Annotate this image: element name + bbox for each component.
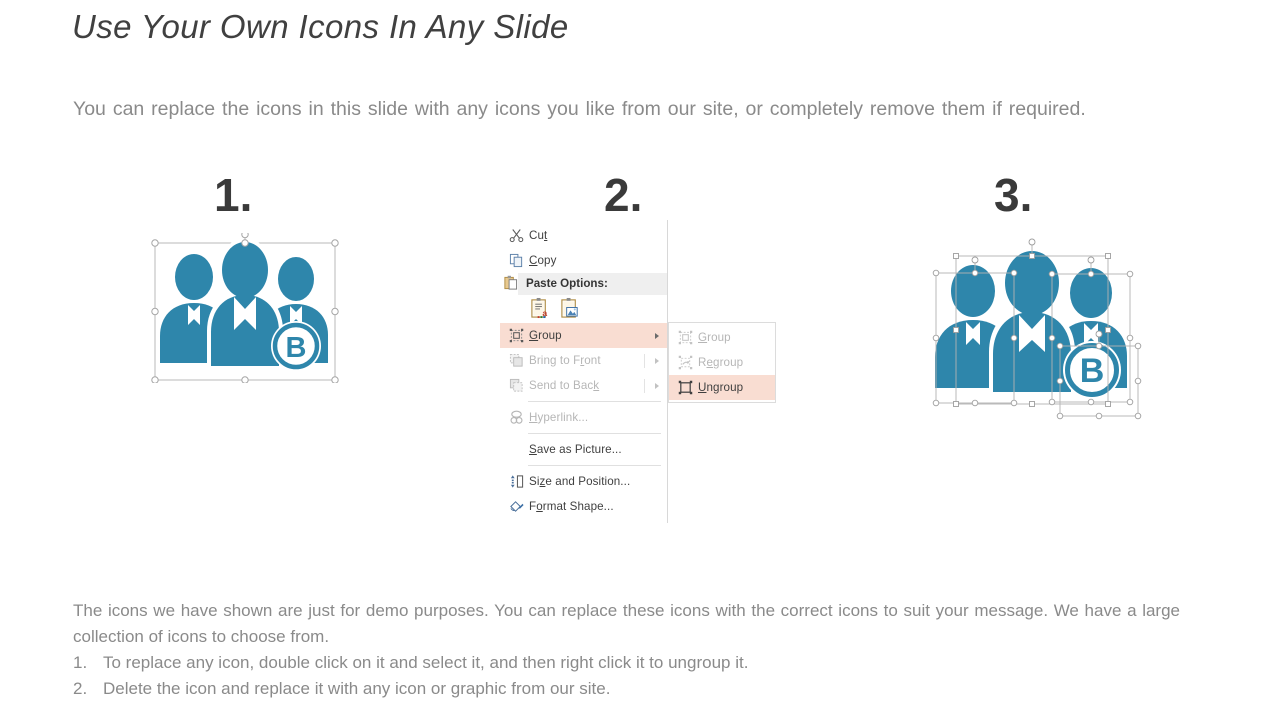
paste-icon [503,275,518,294]
intro-paragraph: You can replace the icons in this slide … [73,94,1185,124]
menu-item-save-as-picture[interactable]: Save as Picture... [500,437,667,462]
submenu-item-ungroup-label: Ungroup [698,381,743,394]
group-icon [503,327,529,345]
menu-item-copy[interactable]: Copy [500,248,667,273]
footer-block: The icons we have shown are just for dem… [73,598,1180,702]
copy-icon [503,252,529,270]
submenu-item-regroup[interactable]: Regroup [669,350,775,375]
menu-header-paste-options-label: Paste Options: [518,273,667,295]
list-item-text: To replace any icon, double click on it … [103,650,748,676]
menu-item-cut[interactable]: Cut [500,223,667,248]
menu-arrow-separator [644,354,645,368]
menu-header-paste-options: Paste Options: [500,273,667,295]
step-number-3: 3. [994,172,1032,218]
people-group-icon: B [935,247,1127,399]
hyperlink-icon [503,409,529,427]
handle-bottom-right [332,377,338,383]
svg-text:B: B [1080,352,1105,390]
page-title: Use Your Own Icons In Any Slide [72,8,1202,46]
handle-top-center [242,240,248,246]
menu-item-send-to-back[interactable]: Send to Back [500,373,667,398]
submenu-item-group-label: Group [698,331,731,344]
menu-arrow-separator [644,379,645,393]
handle-middle-left [152,308,158,314]
submenu-arrow-icon [655,333,659,339]
list-item-text: Delete the icon and replace it with any … [103,676,610,702]
footer-paragraph: The icons we have shown are just for dem… [73,598,1180,650]
menu-item-copy-label: Copy [529,254,556,267]
submenu-arrow-icon [655,383,659,389]
scissors-icon [503,227,529,245]
ungroup-icon [672,379,698,397]
list-item: 1. To replace any icon, double click on … [73,650,1180,676]
submenu-arrow-icon [655,358,659,364]
step-number-2: 2. [604,172,642,218]
handle-top-left [152,240,158,246]
menu-item-format-shape[interactable]: Format Shape... [500,494,667,519]
menu-item-cut-label: Cut [529,229,547,242]
bring-to-front-icon [503,352,529,370]
submenu-item-regroup-label: Regroup [698,356,743,369]
svg-text:B: B [286,332,307,364]
icon-panel-ungrouped[interactable]: B [920,228,1150,420]
menu-item-hyperlink-label: Hyperlink... [529,411,588,424]
list-item-number: 1. [73,650,103,676]
no-icon-placeholder [503,441,529,459]
handle-bottom-left [152,377,158,383]
submenu-item-group[interactable]: Group [669,325,775,350]
group-icon [672,329,698,347]
menu-item-size-and-position[interactable]: Size and Position... [500,469,667,494]
picture-paste-icon[interactable] [560,297,581,322]
footer-list: 1. To replace any icon, double click on … [73,650,1180,702]
step-number-1: 1. [214,172,252,218]
menu-item-hyperlink[interactable]: Hyperlink... [500,405,667,430]
menu-item-group-label: Group [529,329,562,342]
format-shape-icon [503,498,529,516]
send-to-back-icon [503,377,529,395]
menu-item-size-and-position-label: Size and Position... [529,475,630,488]
menu-item-save-as-picture-label: Save as Picture... [529,443,622,456]
paste-options-row[interactable]: a [500,295,667,323]
handle-top-right [332,240,338,246]
regroup-icon [672,354,698,372]
menu-item-group[interactable]: Group [500,323,667,348]
menu-separator [528,401,661,402]
handle-middle-right [332,308,338,314]
submenu-item-ungroup[interactable]: Ungroup [669,375,775,400]
menu-item-bring-to-front[interactable]: Bring to Front [500,348,667,373]
people-group-icon: B [160,238,328,371]
size-and-position-icon [503,473,529,491]
keep-source-formatting-paste-icon[interactable]: a [530,297,551,322]
menu-separator [528,433,661,434]
context-menu[interactable]: Cut Copy Paste Options: [500,220,668,523]
icon-panel-grouped[interactable]: B [150,233,340,383]
list-item-number: 2. [73,676,103,702]
group-submenu[interactable]: Group Regroup [668,322,776,403]
handle-bottom-center [242,377,248,383]
menu-separator [528,465,661,466]
list-item: 2. Delete the icon and replace it with a… [73,676,1180,702]
menu-item-format-shape-label: Format Shape... [529,500,614,513]
menu-item-bring-to-front-label: Bring to Front [529,354,601,367]
menu-item-send-to-back-label: Send to Back [529,379,599,392]
